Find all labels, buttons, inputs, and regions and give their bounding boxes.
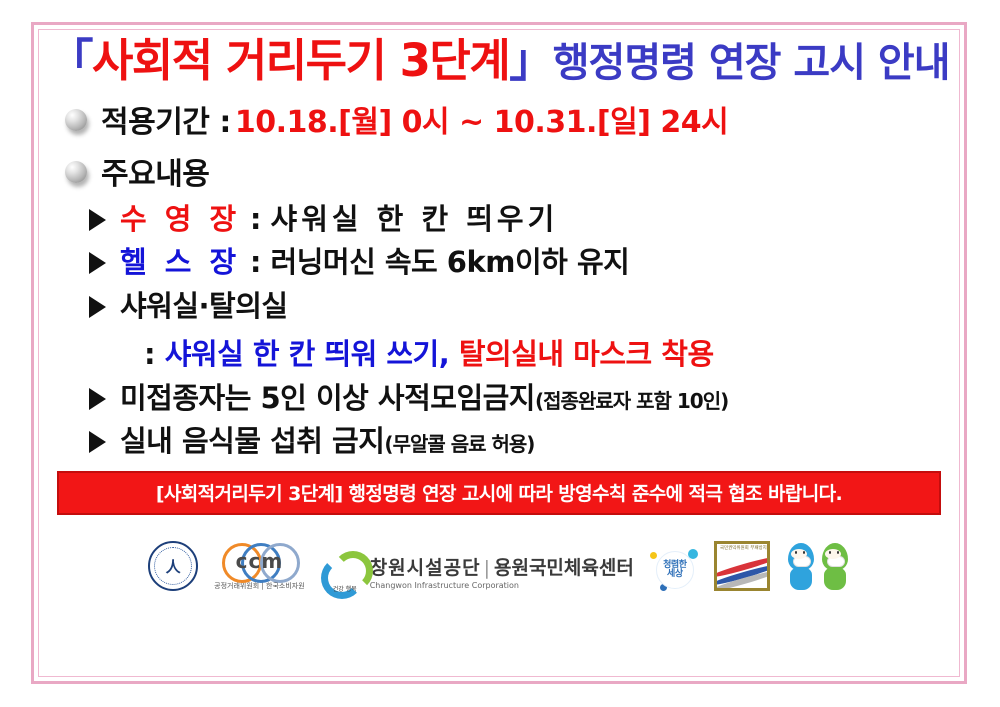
changwon-english-name: Changwon Infrastructure Corporation — [370, 581, 634, 590]
item-main: 미접종자는 5인 이상 사적모임금지 — [120, 381, 535, 415]
main-section-row: 주요내용 — [65, 149, 959, 193]
item-separator: : — [240, 245, 270, 279]
gold-emblem-caption: 국민권익위원회 부패방지 시책평가 — [720, 546, 770, 552]
sub-red-text: 탈의실내 마스크 착용 — [459, 337, 714, 371]
triangle-bullet-icon — [89, 388, 106, 410]
blue-mascot-icon — [786, 543, 816, 591]
ccm-logo-icon: ccm — [222, 541, 296, 579]
triangle-bullet-icon — [89, 252, 106, 274]
period-row: 적용기간 : 10.18.[월] 0시 ~ 10.31.[일] 24시 — [65, 97, 959, 141]
mask-mascot-characters — [786, 543, 850, 591]
ccm-logo-cell: ccm 공정거래위원회 | 한국소비자원 — [214, 541, 305, 591]
main-section-label: 주요내용 — [101, 149, 209, 193]
sphere-bullet-icon — [65, 161, 87, 183]
item-text: 실내 음식물 섭취 금지(무알콜 음료 허용) — [120, 423, 534, 459]
list-item: 헬 스 장 : 러닝머신 속도 6km이하 유지 — [65, 244, 959, 280]
changwon-logo: 건강 행복 창원시설공단|용원국민체육센터 Changwon Infrastru… — [321, 551, 634, 591]
notice-content: 「사회적 거리두기 3단계」행정명령 연장 고시 안내 적용기간 : 10.18… — [39, 30, 959, 676]
green-mascot-body — [824, 568, 846, 590]
sub-prefix: : — [144, 337, 165, 371]
item-sub-line: : 샤워실 한 칸 띄워 쓰기, 탈의실내 마스크 착용 — [65, 331, 959, 373]
human-rights-seal-icon: 人 — [148, 541, 198, 591]
period-label: 적용기간 : — [101, 97, 231, 141]
sphere-bullet-icon — [65, 109, 87, 131]
compliance-banner: [사회적거리두기 3단계] 행정명령 연장 고시에 따라 방영수칙 준수에 적극… — [57, 471, 941, 515]
mascots-cell — [786, 543, 850, 591]
item-separator: : — [240, 202, 270, 236]
changwon-org-line: 창원시설공단|용원국민체육센터 — [370, 553, 634, 580]
title-open-bracket: 「 — [48, 34, 92, 87]
notice-frame: 「사회적 거리두기 3단계」행정명령 연장 고시 안내 적용기간 : 10.18… — [31, 22, 967, 684]
ccm-letters: ccm — [222, 549, 296, 573]
changwon-mark-caption: 건강 행복 — [333, 584, 357, 593]
list-item: 수 영 장 : 샤워실 한 칸 띄우기 — [65, 201, 959, 237]
clean-dot-yellow — [650, 552, 657, 559]
item-text: 헬 스 장 : 러닝머신 속도 6km이하 유지 — [120, 244, 629, 280]
triangle-bullet-icon — [89, 431, 106, 453]
changwon-text-block: 창원시설공단|용원국민체육센터 Changwon Infrastructure … — [370, 553, 634, 590]
item-category: 수 영 장 — [120, 202, 240, 236]
clean-world-badge-icon: 청렴한 세상 — [650, 547, 698, 591]
title-close-bracket: 」 — [509, 34, 553, 87]
human-rights-seal-cell: 人 — [148, 541, 198, 591]
logo-strip: 人 ccm 공정거래위원회 | 한국소비자원 — [39, 529, 959, 591]
clean-world-text: 청렴한 세상 — [663, 561, 686, 580]
clean-world-line2: 세상 — [663, 570, 686, 579]
notice-frame-inner-border: 「사회적 거리두기 3단계」행정명령 연장 고시 안내 적용기간 : 10.18… — [38, 29, 960, 677]
sub-blue-text: 샤워실 한 칸 띄워 쓰기, — [165, 337, 450, 371]
title-red-part: 사회적 거리두기 3단계 — [92, 34, 509, 87]
green-mascot-icon — [820, 543, 850, 591]
item-note: (접종완료자 포함 10인) — [535, 389, 728, 413]
title-blue-part: 행정명령 연장 고시 안내 — [553, 40, 950, 86]
blue-mascot-body — [790, 568, 812, 590]
gold-emblem-cell: 국민권익위원회 부패방지 시책평가 — [714, 541, 770, 591]
item-detail: 러닝머신 속도 6km이하 유지 — [271, 245, 630, 279]
triangle-bullet-icon — [89, 296, 106, 318]
item-note: (무알콜 음료 허용) — [384, 432, 534, 456]
item-detail: 샤워실 한 칸 띄우기 — [271, 202, 559, 236]
clean-world-circle: 청렴한 세상 — [656, 551, 694, 589]
item-category: 헬 스 장 — [120, 245, 240, 279]
item-text: 수 영 장 : 샤워실 한 칸 띄우기 — [120, 201, 558, 237]
item-text: 미접종자는 5인 이상 사적모임금지(접종완료자 포함 10인) — [120, 380, 728, 416]
changwon-branch: 용원국민체육센터 — [494, 557, 634, 579]
compliance-banner-text: [사회적거리두기 3단계] 행정명령 연장 고시에 따라 방영수칙 준수에 적극… — [156, 483, 842, 505]
clean-world-cell: 청렴한 세상 — [650, 547, 698, 591]
list-item: 샤워실·탈의실 — [65, 288, 959, 324]
changwon-logo-cell: 건강 행복 창원시설공단|용원국민체육센터 Changwon Infrastru… — [321, 551, 634, 591]
changwon-divider: | — [484, 557, 491, 579]
list-item: 미접종자는 5인 이상 사적모임금지(접종완료자 포함 10인) — [65, 380, 959, 416]
changwon-org: 창원시설공단 — [370, 557, 481, 579]
changwon-mark-icon: 건강 행복 — [321, 551, 363, 591]
item-main: 실내 음식물 섭취 금지 — [120, 424, 384, 458]
gold-emblem-icon: 국민권익위원회 부패방지 시책평가 — [714, 541, 770, 591]
item-category: 샤워실·탈의실 — [120, 288, 288, 324]
page-title: 「사회적 거리두기 3단계」행정명령 연장 고시 안내 — [39, 38, 959, 83]
triangle-bullet-icon — [89, 209, 106, 231]
period-value: 10.18.[월] 0시 ~ 10.31.[일] 24시 — [235, 97, 728, 141]
human-rights-seal-glyph: 人 — [166, 556, 181, 577]
list-item: 실내 음식물 섭취 금지(무알콜 음료 허용) — [65, 423, 959, 459]
notice-body: 적용기간 : 10.18.[월] 0시 ~ 10.31.[일] 24시 주요내용… — [39, 97, 959, 459]
